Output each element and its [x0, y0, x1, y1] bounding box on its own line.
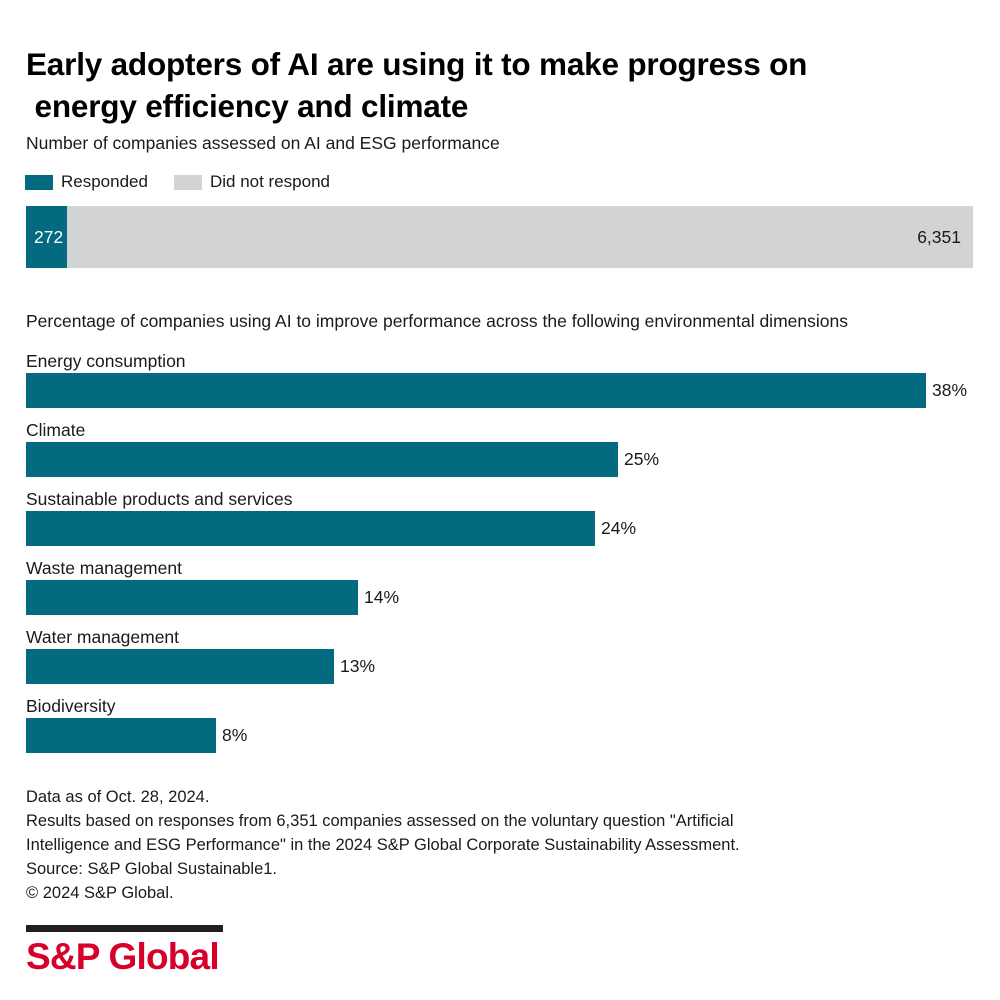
stacked-segment-did-not-respond[interactable]: 6,351: [67, 206, 973, 268]
legend-item-did-not-respond[interactable]: Did not respond: [174, 172, 330, 192]
bar-label-waste-management: Waste management: [26, 556, 182, 580]
bar-value-sustainable-products-and-services: 24%: [601, 518, 636, 539]
bar-fill-sustainable-products-and-services[interactable]: [26, 511, 595, 546]
bar-value-biodiversity: 8%: [222, 725, 247, 746]
bar-fill-energy-consumption[interactable]: [26, 373, 926, 408]
footnote-results-line-1: Results based on responses from 6,351 co…: [26, 809, 966, 833]
bar-label-sustainable-products-and-services: Sustainable products and services: [26, 487, 293, 511]
logo-rule: [26, 925, 223, 932]
bar-value-water-management: 13%: [340, 656, 375, 677]
bar-fill-biodiversity[interactable]: [26, 718, 216, 753]
bar-track-sustainable-products-and-services: 24%: [26, 511, 636, 546]
legend-label-did-not-respond: Did not respond: [210, 172, 330, 192]
footnote-data-as-of: Data as of Oct. 28, 2024.: [26, 785, 966, 809]
bar-fill-waste-management[interactable]: [26, 580, 358, 615]
bar-row-waste-management: Waste management 14%: [26, 556, 986, 625]
sp-global-logo: S&P Global: [26, 925, 223, 977]
page-title: Early adopters of AI are using it to mak…: [26, 43, 926, 127]
section-2-subtitle: Percentage of companies using AI to impr…: [26, 311, 848, 332]
bar-fill-climate[interactable]: [26, 442, 618, 477]
footnote-results-line-2: Intelligence and ESG Performance" in the…: [26, 833, 966, 857]
horizontal-bar-chart: Energy consumption 38% Climate 25% Susta…: [26, 349, 986, 763]
footnotes: Data as of Oct. 28, 2024. Results based …: [26, 785, 966, 905]
bar-label-energy-consumption: Energy consumption: [26, 349, 186, 373]
bar-track-climate: 25%: [26, 442, 659, 477]
stacked-segment-did-not-respond-value: 6,351: [917, 227, 961, 248]
bar-track-energy-consumption: 38%: [26, 373, 967, 408]
page-title-line-2: energy efficiency and climate: [26, 85, 926, 127]
bar-fill-water-management[interactable]: [26, 649, 334, 684]
legend-item-responded[interactable]: Responded: [25, 172, 148, 192]
bar-track-waste-management: 14%: [26, 580, 399, 615]
footnote-copyright: © 2024 S&P Global.: [26, 881, 966, 905]
chart-page: Early adopters of AI are using it to mak…: [0, 0, 1000, 1000]
legend-swatch-responded-icon: [25, 175, 53, 190]
page-title-line-1: Early adopters of AI are using it to mak…: [26, 43, 926, 85]
section-1-subtitle: Number of companies assessed on AI and E…: [26, 133, 500, 154]
bar-value-energy-consumption: 38%: [932, 380, 967, 401]
stacked-segment-responded[interactable]: 272: [26, 206, 67, 268]
footnote-source: Source: S&P Global Sustainable1.: [26, 857, 966, 881]
bar-label-water-management: Water management: [26, 625, 179, 649]
legend: Responded Did not respond: [25, 172, 330, 192]
bar-row-biodiversity: Biodiversity 8%: [26, 694, 986, 763]
bar-row-sustainable-products-and-services: Sustainable products and services 24%: [26, 487, 986, 556]
bar-value-waste-management: 14%: [364, 587, 399, 608]
bar-track-water-management: 13%: [26, 649, 375, 684]
bar-label-biodiversity: Biodiversity: [26, 694, 115, 718]
bar-row-energy-consumption: Energy consumption 38%: [26, 349, 986, 418]
bar-label-climate: Climate: [26, 418, 85, 442]
legend-label-responded: Responded: [61, 172, 148, 192]
bar-value-climate: 25%: [624, 449, 659, 470]
legend-swatch-did-not-respond-icon: [174, 175, 202, 190]
stacked-bar-chart: 272 6,351: [26, 206, 973, 268]
bar-track-biodiversity: 8%: [26, 718, 247, 753]
logo-wordmark: S&P Global: [26, 937, 223, 977]
stacked-segment-responded-value: 272: [34, 227, 63, 248]
bar-row-water-management: Water management 13%: [26, 625, 986, 694]
bar-row-climate: Climate 25%: [26, 418, 986, 487]
